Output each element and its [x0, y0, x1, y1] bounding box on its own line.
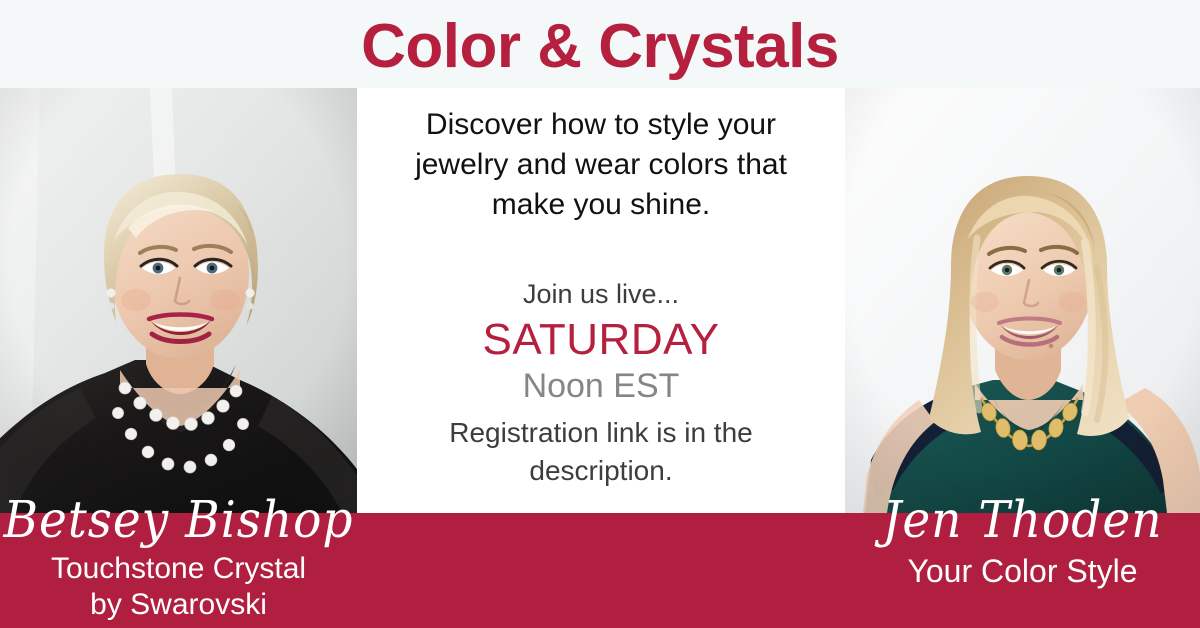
join-live-label: Join us live... [381, 278, 821, 310]
portrait-jen-thoden [845, 88, 1200, 513]
event-subtitle: Discover how to style your jewelry and w… [381, 105, 821, 225]
registration-note: Registration link is in the description. [381, 414, 821, 490]
presenter-org-betsey-line2: by Swarovski [0, 587, 357, 623]
presenter-org-jen: Your Color Style [845, 551, 1200, 591]
presenter-org-jen-line1: Your Color Style [845, 551, 1200, 591]
presenter-org-betsey: Touchstone Crystal by Swarovski [0, 551, 357, 623]
page-title: Color & Crystals [0, 12, 1200, 82]
presenter-name-betsey: Betsey Bishop [0, 491, 357, 551]
event-day: SATURDAY [381, 314, 821, 366]
event-details-panel: Discover how to style your jewelry and w… [357, 88, 845, 513]
event-time: Noon EST [381, 365, 821, 407]
presenter-org-betsey-line1: Touchstone Crystal [0, 551, 357, 587]
portrait-betsey-bishop [0, 88, 357, 513]
presenter-name-jen: Jen Thoden [845, 491, 1200, 551]
promo-graphic: Color & Crystals [0, 0, 1200, 628]
header-band: Color & Crystals [0, 0, 1200, 88]
